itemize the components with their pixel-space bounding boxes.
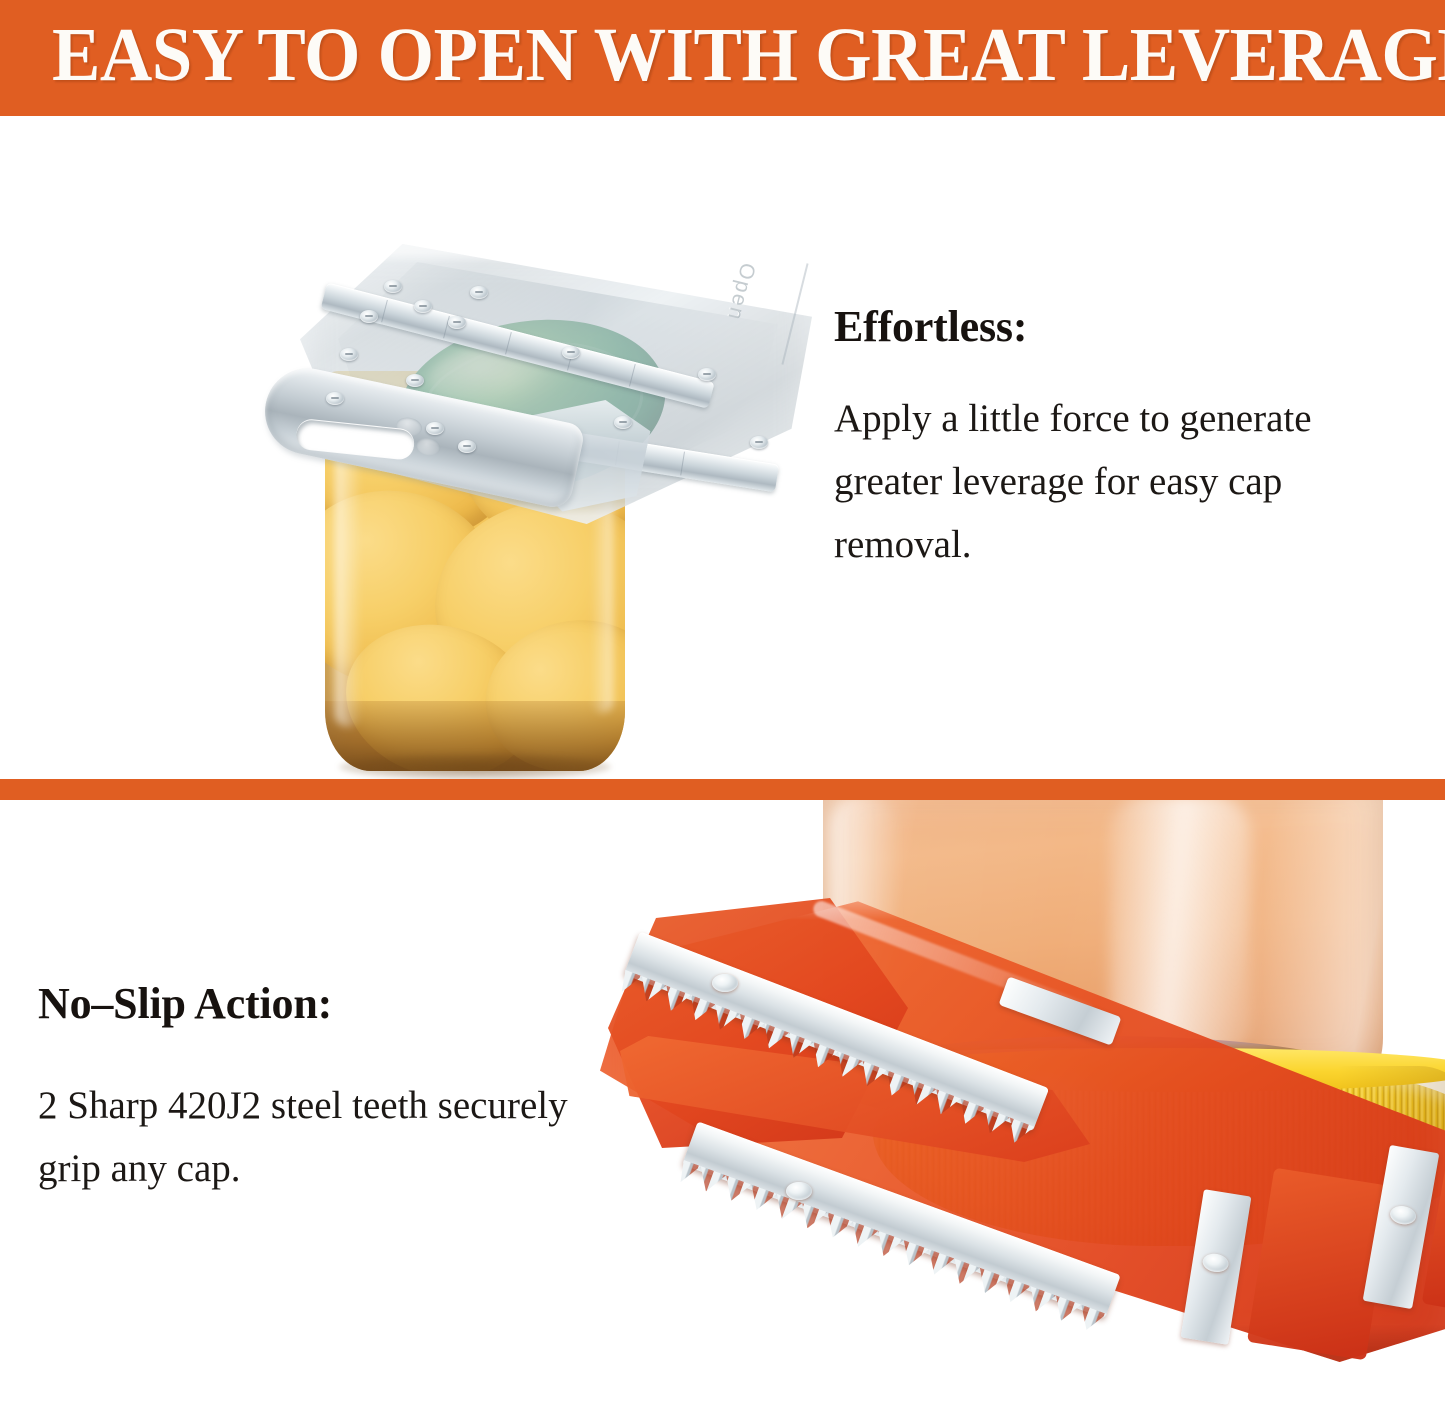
rivet-icon xyxy=(326,392,344,405)
rivet-icon xyxy=(414,300,432,313)
feature-panel-no-slip: No–Slip Action: 2 Sharp 420J2 steel teet… xyxy=(0,800,1445,1411)
clear-jar-opener-image: Open xyxy=(258,244,818,544)
rivet-icon xyxy=(1389,1204,1418,1226)
rivet-icon xyxy=(384,280,402,293)
jar-base-shadow xyxy=(339,754,611,779)
rivet-icon xyxy=(1201,1252,1229,1274)
feature-panel-effortless: Open Effortless: Apply a little force to… xyxy=(0,116,1445,779)
rivet-icon xyxy=(698,368,716,381)
rivet-icon xyxy=(712,974,738,992)
rivet-icon xyxy=(360,310,378,323)
red-jar-opener-image xyxy=(600,892,1445,1411)
rivet-icon xyxy=(750,436,768,449)
no-slip-heading: No–Slip Action: xyxy=(38,978,578,1030)
rivet-icon xyxy=(448,316,466,329)
rivet-icon xyxy=(340,348,358,361)
page-title: EASY TO OPEN WITH GREAT LEVERAGE xyxy=(52,11,1336,99)
no-slip-body: 2 Sharp 420J2 steel teeth securely grip … xyxy=(38,1074,578,1200)
rivet-icon xyxy=(614,416,632,429)
rivet-icon xyxy=(406,374,424,387)
panel-divider xyxy=(0,779,1445,800)
effortless-text-block: Effortless: Apply a little force to gene… xyxy=(834,301,1414,576)
effortless-body: Apply a little force to generate greater… xyxy=(834,387,1414,576)
rivet-icon xyxy=(470,286,488,299)
header-banner: EASY TO OPEN WITH GREAT LEVERAGE xyxy=(0,0,1445,116)
rivet-icon xyxy=(458,440,476,453)
rivet-icon xyxy=(562,346,580,359)
rivet-icon xyxy=(786,1182,812,1200)
product-infographic: EASY TO OPEN WITH GREAT LEVERAGE xyxy=(0,0,1445,1411)
no-slip-text-block: No–Slip Action: 2 Sharp 420J2 steel teet… xyxy=(38,978,578,1200)
effortless-heading: Effortless: xyxy=(834,301,1414,353)
rivet-icon xyxy=(426,422,444,435)
handle-dimple xyxy=(415,436,442,458)
